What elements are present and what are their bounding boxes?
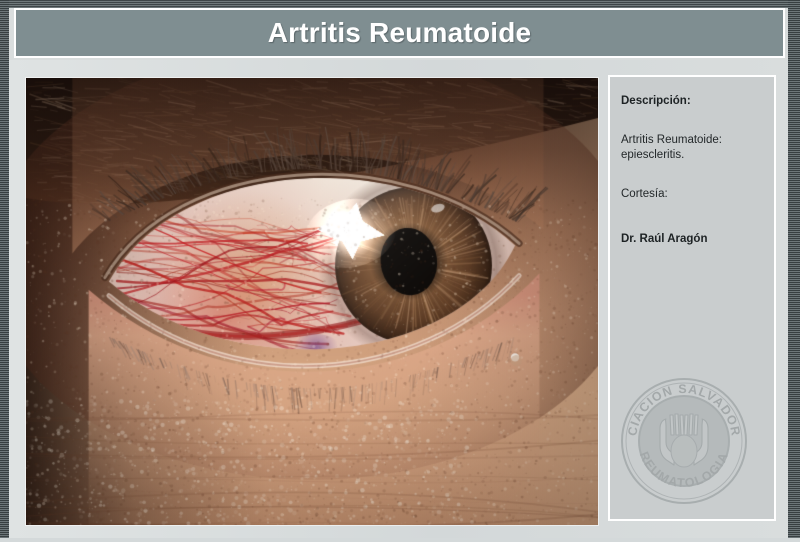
- page-title: Artritis Reumatoide: [268, 17, 532, 49]
- spacer: [621, 216, 774, 232]
- description-text-block: Artritis Reumatoide: epiescleritis.: [621, 133, 774, 163]
- frame-edge-bottom: [0, 538, 800, 542]
- description-panel: Descripción: Artritis Reumatoide: epiesc…: [608, 75, 776, 521]
- clinical-photo-panel: [26, 78, 598, 525]
- eye-photograph: [26, 78, 598, 525]
- spacer: [621, 177, 774, 187]
- description-text: Artritis Reumatoide: epiescleritis.: [621, 133, 761, 163]
- courtesy-name-block: Dr. Raúl Aragón: [621, 232, 774, 247]
- description-label: Descripción:: [621, 94, 774, 109]
- courtesy-label: Cortesía:: [621, 187, 761, 202]
- frame-edge-top: [0, 0, 800, 8]
- frame-edge-left: [0, 0, 9, 542]
- slide-page: Descripción: Artritis Reumatoide: epiesc…: [0, 0, 800, 542]
- description-panel-inner: Descripción: Artritis Reumatoide: epiesc…: [610, 77, 774, 519]
- spacer: [621, 123, 774, 133]
- courtesy-name: Dr. Raúl Aragón: [621, 232, 774, 247]
- frame-edge-right: [788, 0, 800, 542]
- description-block: Descripción:: [621, 94, 774, 109]
- association-logo-watermark: ASOCIACION SALVADOREÑA REUMATOLOGIA: [618, 375, 750, 507]
- courtesy-block: Cortesía:: [621, 187, 774, 202]
- slide-title-bar: Artritis Reumatoide: [14, 8, 785, 58]
